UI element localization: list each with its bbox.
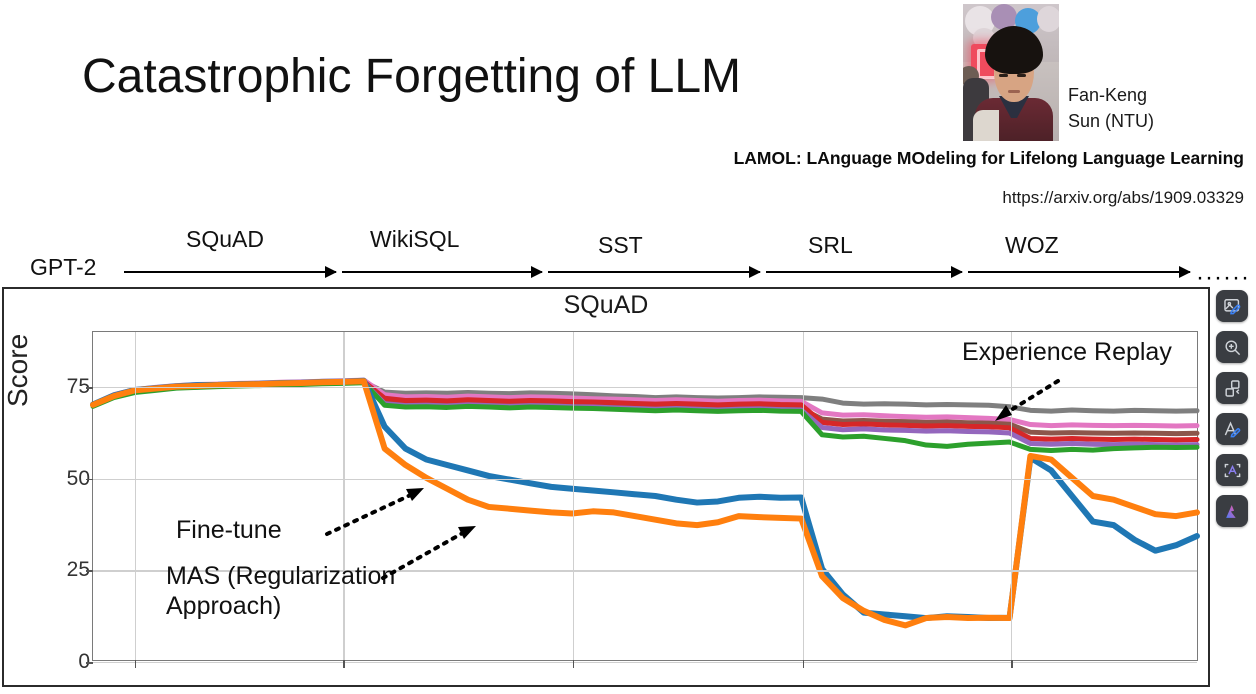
pipeline-step-label-2: SST <box>598 232 643 259</box>
annotation-mas: MAS (RegularizationApproach) <box>166 562 395 621</box>
paper-title: LAMOL: LAnguage MOdeling for Lifelong La… <box>734 148 1244 169</box>
image-edit-icon[interactable] <box>1216 290 1248 322</box>
x-tick-mark <box>1011 660 1013 668</box>
y-axis-tick-50: 50 <box>67 467 99 491</box>
gridline-vertical <box>573 332 574 660</box>
gridline-horizontal <box>93 387 1197 388</box>
text-edit-icon[interactable] <box>1216 413 1248 445</box>
pipeline-arrow-3 <box>766 271 962 273</box>
pipeline-step-label-3: SRL <box>808 232 853 259</box>
x-tick-mark <box>803 660 805 668</box>
pipeline-arrow-1 <box>342 271 542 273</box>
annotation-experience-replay: Experience Replay <box>962 338 1172 368</box>
training-pipeline: GPT-2 SQuAD WikiSQL SST SRL WOZ ······ <box>0 218 1256 286</box>
author-photo <box>963 4 1059 141</box>
gridline-horizontal <box>93 662 1197 663</box>
pipeline-step-label-1: WikiSQL <box>370 226 459 253</box>
gridline-horizontal <box>93 479 1197 480</box>
gridline-vertical <box>803 332 804 660</box>
y-tick-mark <box>86 570 93 572</box>
pipeline-step-label-4: WOZ <box>1005 232 1059 259</box>
chart-title: SQuAD <box>4 291 1208 320</box>
floating-toolbar[interactable] <box>1212 290 1252 527</box>
x-tick-mark <box>135 660 137 668</box>
paper-url[interactable]: https://arxiv.org/abs/1909.03329 <box>1002 188 1244 208</box>
y-axis-tick-75: 75 <box>67 375 99 399</box>
pipeline-start-label: GPT-2 <box>30 254 96 281</box>
select-text-icon[interactable] <box>1216 454 1248 486</box>
y-tick-mark <box>86 662 93 664</box>
pipeline-arrow-2 <box>548 271 760 273</box>
app-logo-icon[interactable] <box>1216 495 1248 527</box>
author-line-1: Fan-Keng <box>1068 82 1154 108</box>
object-swap-icon[interactable] <box>1216 372 1248 404</box>
annotation-fine-tune: Fine-tune <box>176 516 282 546</box>
author-name: Fan-Keng Sun (NTU) <box>1068 82 1154 134</box>
zoom-in-icon[interactable] <box>1216 331 1248 363</box>
x-tick-mark <box>343 660 345 668</box>
y-tick-mark <box>86 387 93 389</box>
y-axis-tick-25: 25 <box>67 558 99 582</box>
pipeline-step-label-0: SQuAD <box>186 226 264 253</box>
page-title: Catastrophic Forgetting of LLM <box>82 52 741 102</box>
y-axis-label: Score <box>2 334 34 407</box>
pipeline-arrow-4 <box>968 271 1190 273</box>
gridline-vertical <box>1011 332 1012 660</box>
annotation-mas-line1: MAS (Regularization <box>166 562 395 590</box>
annotation-mas-line2: Approach) <box>166 592 281 620</box>
x-tick-mark <box>573 660 575 668</box>
slide: Catastrophic Forgetting of LLM Fan-Keng … <box>0 0 1256 694</box>
series-line-lamol-purple <box>93 382 1197 445</box>
author-line-2: Sun (NTU) <box>1068 108 1154 134</box>
gridline-vertical <box>135 332 136 660</box>
pipeline-arrow-0 <box>124 271 336 273</box>
y-tick-mark <box>86 479 93 481</box>
